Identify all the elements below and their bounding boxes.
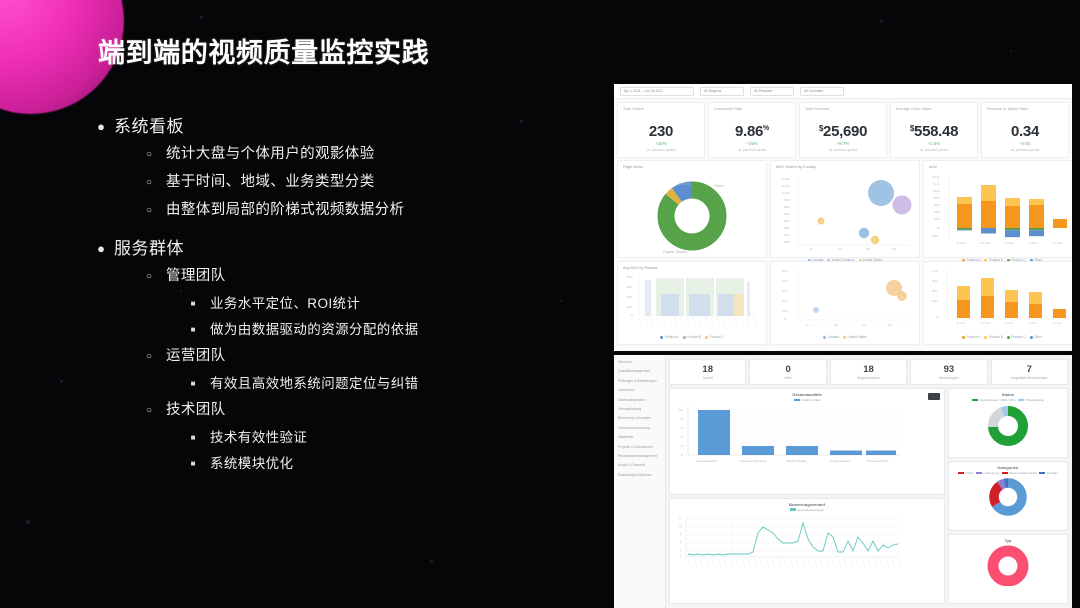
kpi-value: 18 [702,364,713,375]
bullet-circle-icon: ○ [132,147,166,162]
secondary-bar-legend: Product A Product B Product C Other [929,335,1072,339]
svg-text:$200: $200 [627,306,633,309]
bar-legend: Anzahl Vorfälle [674,398,940,402]
bubble-point [859,228,869,238]
kpi-card-offen: 0 Offen [749,359,826,385]
page-views-donut-panel: Page Views Referral Direct Organic Searc… [617,160,767,258]
svg-text:Fehlende Dokumente: Fehlende Dokumente [740,459,767,463]
kpi-label: Total Orders [623,107,699,111]
svg-text:$600: $600 [784,219,790,223]
chart-row-1: Page Views Referral Direct Organic Searc… [614,160,1072,261]
outline-item-text: 技术团队 [166,403,226,418]
outline-item-level1: ● 服务群体 [88,240,588,257]
legend-entry: Product A [660,335,678,339]
kpi-value: 7 [1027,364,1032,375]
legend-entry: Product B [984,335,1003,339]
status-donut-card: Status Abgeschlossen Offen In Bearbeitun… [948,388,1068,458]
svg-text:$800: $800 [934,197,940,200]
dashboard-filter-bar: Apr 1 2021 – Jun 30 2021 All Regions All… [614,84,1072,99]
bar-segment [981,201,996,228]
svg-text:$300: $300 [932,300,938,303]
legend-entry: Other [1030,335,1042,339]
svg-text:$0: $0 [937,227,940,230]
legend-entry: Anzahl Vorfälle [794,398,820,402]
kpi-card-abgeschlossen: 18 Abgeschlossen [830,359,907,385]
kpi-label: Ungeklärte Bewertungen [1011,376,1047,380]
legend-entry: Product C [705,335,724,339]
svg-text:$4k: $4k [862,324,867,327]
kpi-value: 9.86% [709,123,795,140]
svg-text:May 2021: May 2021 [980,242,991,245]
legend-entry: Dokumentationsfehler [1002,471,1037,475]
svg-text:$400: $400 [784,233,790,237]
svg-text:Jun 2021: Jun 2021 [1004,242,1015,245]
card-title: Gesamtausfälle [674,392,940,397]
page-title: 端到端的视频质量监控实践 [98,31,429,70]
card-title: Bewertungsverlauf [674,502,940,507]
sidebar-item-vertragshaltung[interactable]: Vertragshaltung [618,407,661,411]
outline-item-text: 有效且高效地系统问题定位与纠错 [210,377,419,391]
svg-text:$4k: $4k [866,247,871,251]
bar-segment [1005,228,1020,230]
legend-entry: United States [843,335,867,339]
bar-segment [1029,228,1044,230]
kpi-label: Abgeschlossen [857,376,879,380]
svg-text:Aug 2021: Aug 2021 [1052,322,1063,325]
bubble-point [897,291,907,301]
region-filter-select[interactable]: All Regions [700,87,744,96]
legend-entry: Product C [1007,335,1026,339]
sidebar-item-projekte[interactable]: Projekte & Maßnahmen [618,445,661,449]
svg-text:Falsche Bauteile: Falsche Bauteile [786,459,807,463]
svg-text:$300: $300 [784,240,790,244]
kpi-label: Total Revenue [805,107,881,111]
secondary-bubble-panel: $800$700$600 $500$400$0 $0$2k$4k$6k Cana… [770,261,920,345]
aov-bar-panel: AOV $1.4k$1.2k$1.0k $800$600$400 $200$0-… [923,160,1072,258]
bullet-square-icon: ■ [176,323,210,337]
aov-orders-bubble-chart: $1,200$1,100$1,000 $900$800$700 $600$500… [776,171,914,257]
kpi-value: 18 [863,364,874,375]
outline-item-level2: ○ 统计大盘与个体用户的观影体验 [132,147,588,162]
kpi-suffix: % [763,125,769,132]
svg-text:$1,000: $1,000 [782,191,790,195]
kpi-number: 25,690 [823,123,867,140]
outline-item-level3: ■ 业务水平定位、ROI统计 [176,297,588,311]
svg-text:$6k: $6k [888,324,893,327]
avg-aov-by-product-panel: Avg AOV by Product $800$600$400$200$0 [617,261,767,345]
bullet-circle-icon: ○ [132,175,166,190]
sidebar-item-lieferanten[interactable]: Lieferanten [618,388,661,392]
card-title: Status [953,392,1063,397]
kpi-subtext: vs. previous period [800,148,886,152]
svg-text:0: 0 [681,453,683,457]
analytics-dashboard-top: Apr 1 2021 – Jun 30 2021 All Regions All… [614,84,1072,351]
bar-segment [1005,198,1020,206]
legend-entry: Fehler [958,471,973,475]
donut-label-organic: Organic Search [663,250,687,254]
bullet-circle-icon: ○ [132,203,166,218]
svg-text:Zu spät geliefert: Zu spät geliefert [830,459,850,463]
sidebar-item-qualitaetsmanagement[interactable]: Qualitätsmanagement [618,369,661,373]
svg-text:12: 12 [679,517,682,520]
svg-text:$700: $700 [782,280,788,283]
outline-item-level3: ■ 做为由数据驱动的资源分配的依据 [176,323,588,337]
area-legend: Product A Product B Product C [623,335,761,339]
bar [742,446,774,455]
sidebar-item-mitarbeiter[interactable]: Mitarbeiter [618,435,661,439]
kpi-value: $25,690 [800,123,886,140]
svg-text:Apr 2021: Apr 2021 [956,242,966,245]
product-filter-select[interactable]: All Products [750,87,794,96]
svg-text:$600: $600 [627,286,633,289]
bubble-point [868,180,894,206]
dashboard-sidebar: Übersicht Qualitätsmanagement Prüfungen … [614,355,666,608]
bar-segment [957,230,972,231]
svg-text:$800: $800 [782,270,788,273]
donut-label-referral: Referral [679,182,691,186]
legend-entry: Abgeschlossen [972,398,999,402]
dashboard-lower: Gesamtausfälle Anzahl Vorfälle [669,388,1068,604]
line-legend: Gesamtbewertungen [674,508,940,512]
date-range-filter[interactable]: Apr 1 2021 – Jun 30 2021 [620,87,694,96]
outline-item-level2: ○ 运营团队 [132,349,588,364]
aov-stacked-bar-chart: $1.4k$1.2k$1.0k $800$600$400 $200$0-$200 [929,171,1072,257]
svg-text:10: 10 [679,525,682,528]
svg-text:2: 2 [681,444,683,448]
svg-text:$200: $200 [934,218,940,221]
svg-text:$500: $500 [782,300,788,303]
bullet-square-icon: ■ [176,297,210,311]
kpi-value: 230 [618,123,704,140]
kpi-label: Offen [784,376,792,380]
outline-item-text: 业务水平定位、ROI统计 [210,297,360,311]
svg-text:$600: $600 [782,290,788,293]
svg-text:$0: $0 [631,314,634,317]
outline-item-text: 运营团队 [166,349,226,364]
bar-segment [957,300,970,318]
kpi-number: 230 [649,123,673,140]
bubble-point [893,196,912,215]
kpi-label: Average Order Value [896,107,972,111]
outline-list: ● 系统看板 ○ 统计大盘与个体用户的观影体验 ○ 基于时间、地域、业务类型分类… [88,118,588,483]
kpi-delta: +2.5% [891,141,977,146]
sidebar-item-lieferantenbewertung[interactable]: Lieferantenbewertung [618,426,661,430]
legend-entry: Canada [823,335,839,339]
kategorien-legend: Fehler Lieferverzug Dokumentationsfehler… [953,471,1063,475]
outline-item-level2: ○ 由整体到局部的阶梯式视频数据分析 [132,203,588,218]
decorative-spark [1010,50,1012,52]
kategorien-donut-card: Kategorien Fehler Lieferverzug Dokumenta… [948,461,1068,531]
dashboard-left-column: Gesamtausfälle Anzahl Vorfälle [669,388,945,604]
legend-entry: Sonstige [1039,471,1057,475]
svg-text:May 2021: May 2021 [980,323,991,325]
decorative-spark [880,20,883,23]
kpi-row: 18 Auslöff 0 Offen 18 Abgeschlossen 93 B… [669,359,1068,385]
line-series [688,523,898,555]
kpi-delta: +8.7% [800,141,886,146]
kategorien-donut-chart [953,476,1063,518]
outline-item-text: 基于时间、地域、业务类型分类 [166,175,375,190]
sidebar-item-bewertung[interactable]: Bewertung Lieferanten [618,416,661,420]
svg-text:2: 2 [680,555,682,558]
panel-title: Page Views [623,165,761,169]
svg-text:$0: $0 [784,318,787,321]
outline-item-text: 系统看板 [114,118,184,135]
legend-entry: Lieferverzug [976,471,999,475]
bar-segment [957,204,972,228]
bewertungsverlauf-line-chart: 12108 642 [674,513,902,575]
bar [786,446,818,455]
svg-text:Transportschäden: Transportschäden [866,459,889,463]
kpi-label: Auslöff [703,376,713,380]
svg-text:$600: $600 [934,204,940,207]
bar-segment [1005,302,1018,318]
kpi-delta: +25% [618,141,704,146]
page-views-donut-chart: Referral Direct Organic Search [623,171,761,257]
bar [830,451,862,456]
panel-title: AOV Orders by Country [776,165,914,169]
donut-label-direct: Direct [715,184,724,188]
card-title: Kategorien [953,465,1063,470]
bubble-point [871,236,879,244]
outline-item-text: 管理团队 [166,269,226,284]
bullet-disc-icon: ● [88,118,114,135]
svg-text:4: 4 [681,435,683,439]
svg-text:$600: $600 [932,290,938,293]
kpi-label: Revenue to Spend Ratio [987,107,1063,111]
outline-item-level2: ○ 技术团队 [132,403,588,418]
bullet-square-icon: ■ [176,377,210,391]
svg-text:$400: $400 [627,296,633,299]
svg-text:$2k: $2k [834,324,839,327]
svg-text:Apr 2021: Apr 2021 [956,322,966,325]
dashboard-main: 18 Auslöff 0 Offen 18 Abgeschlossen 93 B… [666,355,1072,608]
kpi-card: Total Revenue $25,690 +8.7% vs. previous… [799,102,887,158]
kpi-value: $558.48 [891,123,977,140]
outline-item-text: 统计大盘与个体用户的观影体验 [166,147,375,162]
card-title: Typ [953,538,1063,543]
bewertungsverlauf-card: Bewertungsverlauf Gesamtbewertungen [669,498,945,605]
kpi-row: Total Orders 230 +25% vs. previous perio… [614,99,1072,160]
legend-entry: Gesamtbewertungen [790,508,824,512]
bar-segment [1029,230,1044,236]
bullet-circle-icon: ○ [132,349,166,364]
typ-donut-card: Typ [948,534,1068,604]
svg-text:$1.2k: $1.2k [932,270,939,273]
kpi-card-ungeklaerte: 7 Ungeklärte Bewertungen [991,359,1068,385]
svg-text:$400: $400 [782,310,788,313]
svg-text:8: 8 [680,533,682,536]
chart-row-2: Avg AOV by Product $800$600$400$200$0 [614,261,1072,348]
svg-text:$800: $800 [784,205,790,209]
svg-text:$900: $900 [784,198,790,202]
svg-text:$1,100: $1,100 [782,184,790,188]
outline-item-text: 系统模块优化 [210,457,293,471]
outline-item-level2: ○ 基于时间、地域、业务类型分类 [132,175,588,190]
bullet-circle-icon: ○ [132,269,166,284]
secondary-bubble-legend: Canada United States [776,335,914,339]
legend-entry: Product A [962,335,980,339]
bar-segment [957,228,972,230]
fullscreen-button[interactable] [928,393,940,400]
svg-text:$800: $800 [627,276,633,279]
legend-entry: Product B [683,335,702,339]
svg-text:$900: $900 [932,280,938,283]
status-donut-chart [953,403,1063,449]
svg-text:10: 10 [679,408,683,412]
bar-segment [1005,206,1020,228]
legend-entry: Offen [1001,398,1015,402]
secondary-bar-panel: $1.2k$900$600$300$0 Apr 2021May 2021 Jun… [923,261,1072,345]
kpi-value: 93 [944,364,955,375]
bar [698,410,730,455]
svg-text:8: 8 [681,417,683,421]
panel-title: Avg AOV by Product [623,266,761,270]
bar-segment [957,197,972,204]
outline-item-text: 做为由数据驱动的资源分配的依据 [210,323,419,337]
kpi-delta: +0.04 [982,141,1068,146]
kpi-value: 0 [785,364,790,375]
svg-text:$1.2k: $1.2k [933,183,940,186]
bar-segment [1053,309,1066,318]
typ-donut-chart [953,544,1063,586]
legend-entry: In Bearbeitung [1018,398,1044,402]
kpi-card: Average Order Value $558.48 +2.5% vs. pr… [890,102,978,158]
bar [866,451,896,456]
gesamtausfaelle-bar-chart: 1086 420 LieferantenfehlerFehlende Dokum… [674,403,902,469]
svg-text:$0: $0 [806,324,809,327]
svg-text:$700: $700 [784,212,790,216]
secondary-bubble-chart: $800$700$600 $500$400$0 $0$2k$4k$6k [776,266,914,334]
sidebar-item-einstellungen[interactable]: Einstellungen/Optionen [618,473,661,477]
kpi-label: Conversion Rate [714,107,790,111]
aov-orders-by-country-panel: AOV Orders by Country $1,200$1,100$1,000… [770,160,920,258]
gesamtausfaelle-card: Gesamtausfälle Anzahl Vorfälle [669,388,945,495]
avg-aov-area-chart: $800$600$400$200$0 [623,272,761,334]
kpi-card-bewertungen: 93 Bewertungen [910,359,987,385]
slide-content-pane: 端到端的视频质量监控实践 ● 系统看板 ○ 统计大盘与个体用户的观影体验 ○ 基… [0,0,600,608]
bullet-square-icon: ■ [176,457,210,471]
kpi-card: Conversion Rate 9.86% +25% vs. previous … [708,102,796,158]
quality-dashboard-bottom: Übersicht Qualitätsmanagement Prüfungen … [614,355,1072,608]
country-filter-select[interactable]: All Countries [800,87,844,96]
svg-text:$1.4k: $1.4k [933,176,940,179]
outline-item-level3: ■ 技术有效性验证 [176,431,588,445]
svg-text:Lieferantenfehler: Lieferantenfehler [696,459,717,463]
outline-item-level3: ■ 系统模块优化 [176,457,588,471]
bar-segment [1029,304,1042,318]
secondary-bar-chart: $1.2k$900$600$300$0 Apr 2021May 2021 Jun… [929,266,1072,334]
bar-segment [1053,219,1067,228]
panel-title: AOV [929,165,1072,169]
kpi-subtext: vs. previous period [891,148,977,152]
outline-item-level2: ○ 管理团队 [132,269,588,284]
bubble-point [817,217,824,224]
svg-text:Jul 2021: Jul 2021 [1028,242,1038,245]
kpi-card-ausloff: 18 Auslöff [669,359,746,385]
status-legend: Abgeschlossen Offen In Bearbeitung [953,398,1063,402]
kpi-delta: +25% [709,141,795,146]
bar-segment [1029,199,1044,205]
kpi-number: 0.34 [1011,123,1039,140]
kpi-subtext: vs. previous period [982,148,1068,152]
sidebar-item-uebersicht[interactable]: Übersicht [618,360,661,364]
dashboard-right-column: Status Abgeschlossen Offen In Bearbeitun… [948,388,1068,604]
svg-text:$0: $0 [936,316,939,319]
bar-segment [1029,205,1044,228]
svg-text:$500: $500 [784,226,790,230]
svg-text:4: 4 [680,549,682,552]
bar-segment [981,296,994,318]
svg-text:$2k: $2k [838,247,843,251]
bullet-square-icon: ■ [176,431,210,445]
outline-item-text: 技术有效性验证 [210,431,307,445]
svg-text:-$200: -$200 [932,235,939,238]
kpi-subtext: vs. previous period [709,148,795,152]
outline-item-text: 服务群体 [114,240,184,257]
svg-text:6: 6 [680,541,682,544]
sidebar-item-reklamationen[interactable]: Reklamationsmanagement [618,454,661,458]
kpi-label: Bewertungen [939,376,958,380]
svg-text:$0: $0 [810,247,813,251]
kpi-subtext: vs. previous period [618,148,704,152]
svg-text:6: 6 [681,426,683,430]
bar-segment [981,228,996,234]
svg-text:$400: $400 [934,211,940,214]
kpi-card: Total Orders 230 +25% vs. previous perio… [617,102,705,158]
kpi-number: 558.48 [914,123,958,140]
svg-text:Jun 2021: Jun 2021 [1004,323,1014,325]
svg-text:Aug 2021: Aug 2021 [1052,242,1063,245]
sidebar-item-audits[interactable]: Audits & Channels [618,463,661,467]
kpi-card: Revenue to Spend Ratio 0.34 +0.04 vs. pr… [981,102,1069,158]
svg-text:$1.0k: $1.0k [933,190,940,193]
outline-item-level1: ● 系统看板 [88,118,588,135]
svg-text:$6k: $6k [892,247,897,251]
bar-segment [1005,230,1020,237]
kpi-value: 0.34 [982,123,1068,140]
sidebar-item-materialdisposition[interactable]: Materialdisposition [618,398,661,402]
bubble-point [813,307,819,313]
bullet-disc-icon: ● [88,240,114,257]
outline-item-text: 由整体到局部的阶梯式视频数据分析 [166,203,404,218]
svg-text:$1,200: $1,200 [782,177,790,181]
sidebar-item-pruefungen[interactable]: Prüfungen & Bewertungen [618,379,661,383]
bullet-circle-icon: ○ [132,403,166,418]
outline-item-level3: ■ 有效且高效地系统问题定位与纠错 [176,377,588,391]
svg-text:Jul 2021: Jul 2021 [1028,323,1037,325]
kpi-number: 9.86 [735,123,763,140]
bar-segment [981,185,996,201]
